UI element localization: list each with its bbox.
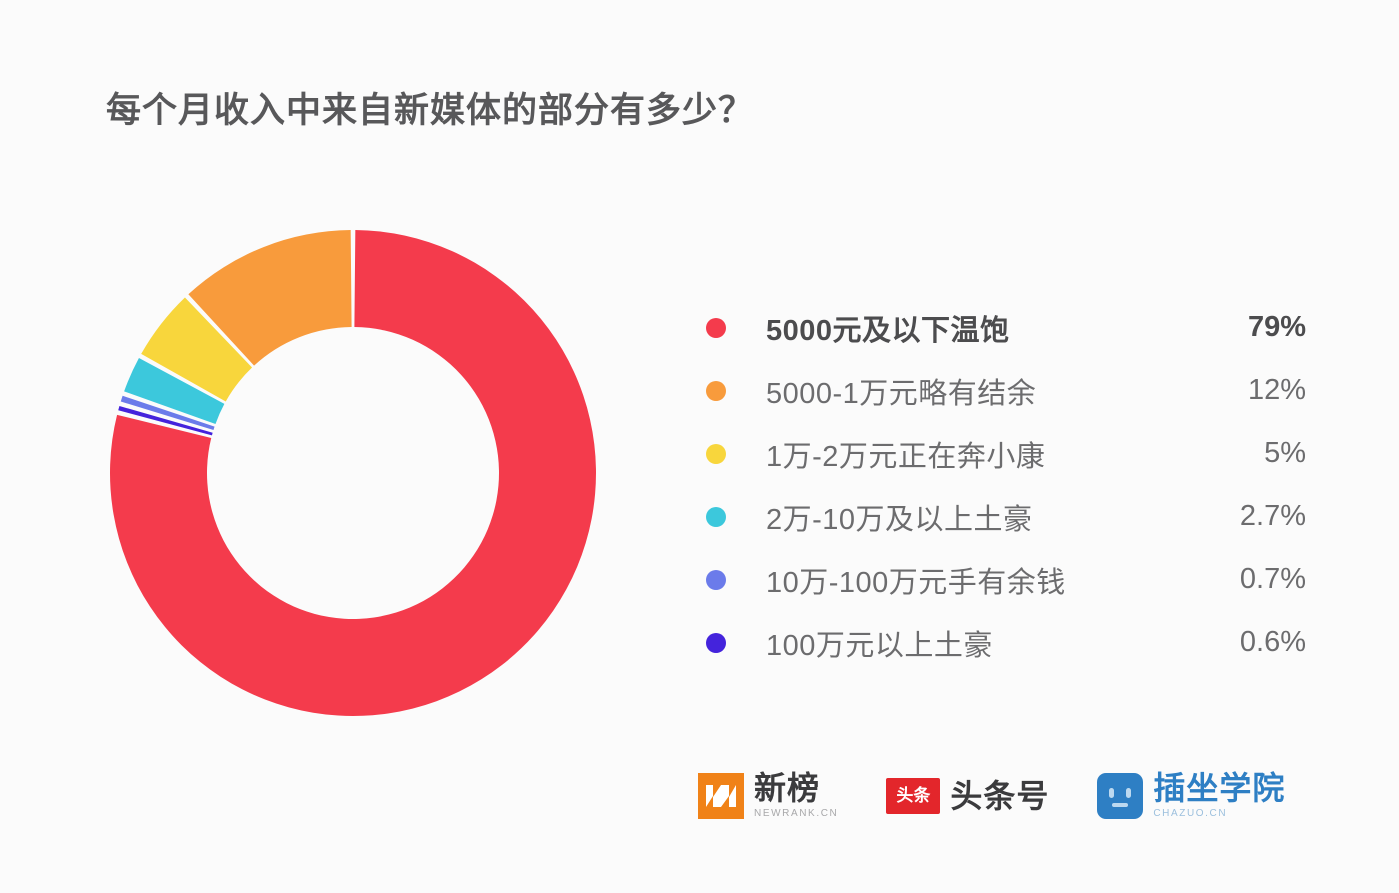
donut-chart xyxy=(108,228,598,718)
legend-item[interactable]: 5000元及以下温饱 79% xyxy=(706,296,1306,359)
logo-name-cn: 头条号 xyxy=(950,780,1049,812)
newrank-logo-text: 新榜 NEWRANK.CN xyxy=(754,772,838,819)
chazuo-logo-text: 插坐学院 CHAZUO.CN xyxy=(1153,772,1285,819)
newrank-logo-mark-icon xyxy=(698,773,744,819)
legend-color-swatch-icon xyxy=(706,444,726,464)
logo-name-en: NEWRANK.CN xyxy=(754,809,838,819)
legend-color-swatch-icon xyxy=(706,318,726,338)
page-title: 每个月收入中来自新媒体的部分有多少？ xyxy=(106,82,754,133)
logo-name-cn: 插坐学院 xyxy=(1153,772,1285,804)
legend-color-swatch-icon xyxy=(706,507,726,527)
legend-item[interactable]: 5000-1万元略有结余 12% xyxy=(706,359,1306,422)
newrank-glyph-icon xyxy=(698,773,744,819)
donut-chart-svg xyxy=(108,228,598,718)
legend-item-label: 1万-2万元正在奔小康 xyxy=(766,433,1186,475)
legend-item[interactable]: 100万元以上土豪 0.6% xyxy=(706,611,1306,674)
chazuo-logo-mark-icon xyxy=(1097,773,1143,819)
toutiao-logo-mark-icon: 头条 xyxy=(886,778,940,814)
legend-item-value: 2.7% xyxy=(1186,500,1306,533)
legend-item[interactable]: 1万-2万元正在奔小康 5% xyxy=(706,422,1306,485)
logo-name-cn: 新榜 xyxy=(754,772,838,804)
chazuo-eye-left-icon xyxy=(1109,788,1114,798)
legend-color-swatch-icon xyxy=(706,633,726,653)
logo-toutiaohao: 头条 头条号 xyxy=(886,778,1049,814)
chart-legend: 5000元及以下温饱 79% 5000-1万元略有结余 12% 1万-2万元正在… xyxy=(706,296,1306,674)
chart-page: 每个月收入中来自新媒体的部分有多少？ 5000元及以下温饱 79% 5000-1… xyxy=(0,0,1399,893)
legend-item[interactable]: 10万-100万元手有余钱 0.7% xyxy=(706,548,1306,611)
legend-color-swatch-icon xyxy=(706,381,726,401)
logo-newrank: 新榜 NEWRANK.CN xyxy=(698,772,838,819)
legend-item-label: 2万-10万及以上土豪 xyxy=(766,496,1186,538)
legend-item-value: 0.7% xyxy=(1186,563,1306,596)
donut-slice-group xyxy=(110,230,596,716)
chazuo-eye-right-icon xyxy=(1126,788,1131,798)
legend-item-label: 100万元以上土豪 xyxy=(766,622,1186,664)
legend-item-value: 79% xyxy=(1186,311,1306,344)
chazuo-mouth-icon xyxy=(1112,803,1128,807)
legend-item-label: 5000-1万元略有结余 xyxy=(766,370,1186,412)
legend-item-label: 10万-100万元手有余钱 xyxy=(766,559,1186,601)
legend-item-label: 5000元及以下温饱 xyxy=(766,307,1186,349)
logo-name-en: CHAZUO.CN xyxy=(1153,809,1285,819)
legend-item[interactable]: 2万-10万及以上土豪 2.7% xyxy=(706,485,1306,548)
legend-color-swatch-icon xyxy=(706,570,726,590)
toutiaohao-logo-text: 头条号 xyxy=(950,780,1049,812)
logo-chazuo: 插坐学院 CHAZUO.CN xyxy=(1097,772,1285,819)
footer-logo-bar: 新榜 NEWRANK.CN 头条 头条号 插坐学院 CHAZUO.CN xyxy=(698,772,1285,819)
legend-item-value: 12% xyxy=(1186,374,1306,407)
legend-item-value: 0.6% xyxy=(1186,626,1306,659)
legend-item-value: 5% xyxy=(1186,437,1306,470)
